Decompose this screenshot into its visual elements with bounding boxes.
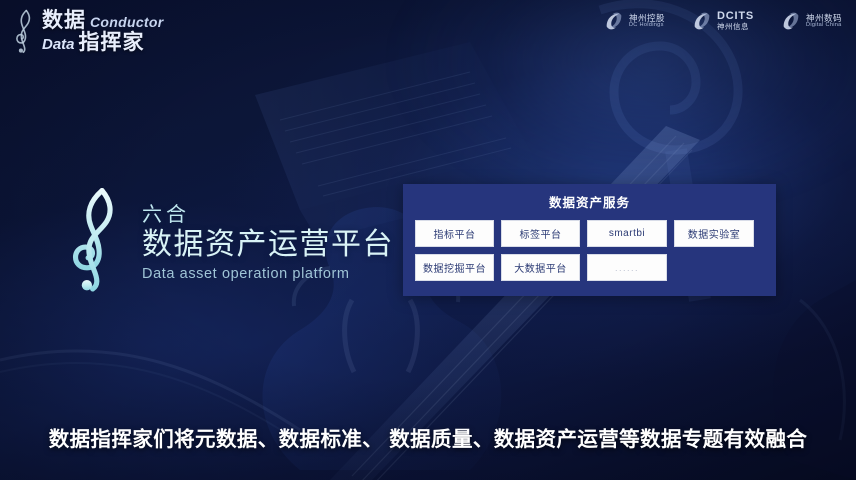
partner-name-en: Digital China	[806, 23, 842, 29]
brand-cn-1: 数据	[42, 10, 86, 31]
panel-title: 数据资产服务	[415, 192, 764, 211]
partner-dc-holdings: 神州控股 DC Holdings	[603, 10, 665, 32]
brand-text: 数据 Conductor Data 指挥家	[42, 9, 163, 53]
hero-main-title: 数据资产运营平台	[142, 228, 394, 262]
swirl-logo-icon	[691, 10, 713, 32]
swirl-logo-icon	[780, 10, 802, 32]
swirl-logo-icon	[603, 10, 625, 32]
partner-text: 神州控股 DC Holdings	[629, 14, 665, 29]
service-card-indicator-platform[interactable]: 指标平台	[415, 220, 494, 247]
partner-name-en: DC Holdings	[629, 23, 665, 29]
service-card-data-mining-platform[interactable]: 数据挖掘平台	[415, 254, 494, 281]
treble-clef-icon	[12, 8, 38, 54]
partner-logos: 神州控股 DC Holdings DCITS 神州信息 神州数码 Digital…	[603, 10, 842, 32]
brand-cn-2: 指挥家	[79, 32, 145, 53]
partner-dcits: DCITS 神州信息	[691, 10, 754, 32]
partner-text: DCITS 神州信息	[717, 11, 754, 30]
service-card-data-lab[interactable]: 数据实验室	[674, 220, 754, 247]
data-asset-service-panel: 数据资产服务 指标平台 标签平台 smartbi 数据实验室 数据挖掘平台 大数…	[403, 184, 776, 296]
slide-root: 数据 Conductor Data 指挥家 神州控股 DC Holdings	[0, 0, 856, 480]
brand-logo: 数据 Conductor Data 指挥家	[12, 8, 163, 54]
hero-english-title: Data asset operation platform	[142, 266, 394, 282]
brand-en-2: Data	[42, 37, 75, 52]
partner-digital-china: 神州数码 Digital China	[780, 10, 842, 32]
partner-name-en: 神州信息	[717, 23, 754, 31]
treble-clef-icon	[68, 186, 130, 292]
brand-en-1: Conductor	[90, 15, 163, 29]
slide-caption: 数据指挥家们将元数据、数据标准、 数据质量、数据资产运营等数据专题有效融合	[0, 422, 856, 452]
hero-text: 六合 数据资产运营平台 Data asset operation platfor…	[142, 196, 394, 283]
service-card-tag-platform[interactable]: 标签平台	[501, 220, 580, 247]
brand-line-1: 数据 Conductor	[42, 10, 163, 31]
service-card-more[interactable]: ......	[587, 254, 667, 281]
service-card-big-data-platform[interactable]: 大数据平台	[501, 254, 580, 281]
hero-title-block: 六合 数据资产运营平台 Data asset operation platfor…	[68, 186, 394, 292]
brand-line-2: Data 指挥家	[42, 32, 163, 53]
hero-subtitle: 六合	[142, 198, 394, 227]
partner-text: 神州数码 Digital China	[806, 14, 842, 29]
service-card-grid: 指标平台 标签平台 smartbi 数据实验室 数据挖掘平台 大数据平台 ...…	[415, 220, 764, 281]
service-card-smartbi[interactable]: smartbi	[587, 220, 667, 247]
